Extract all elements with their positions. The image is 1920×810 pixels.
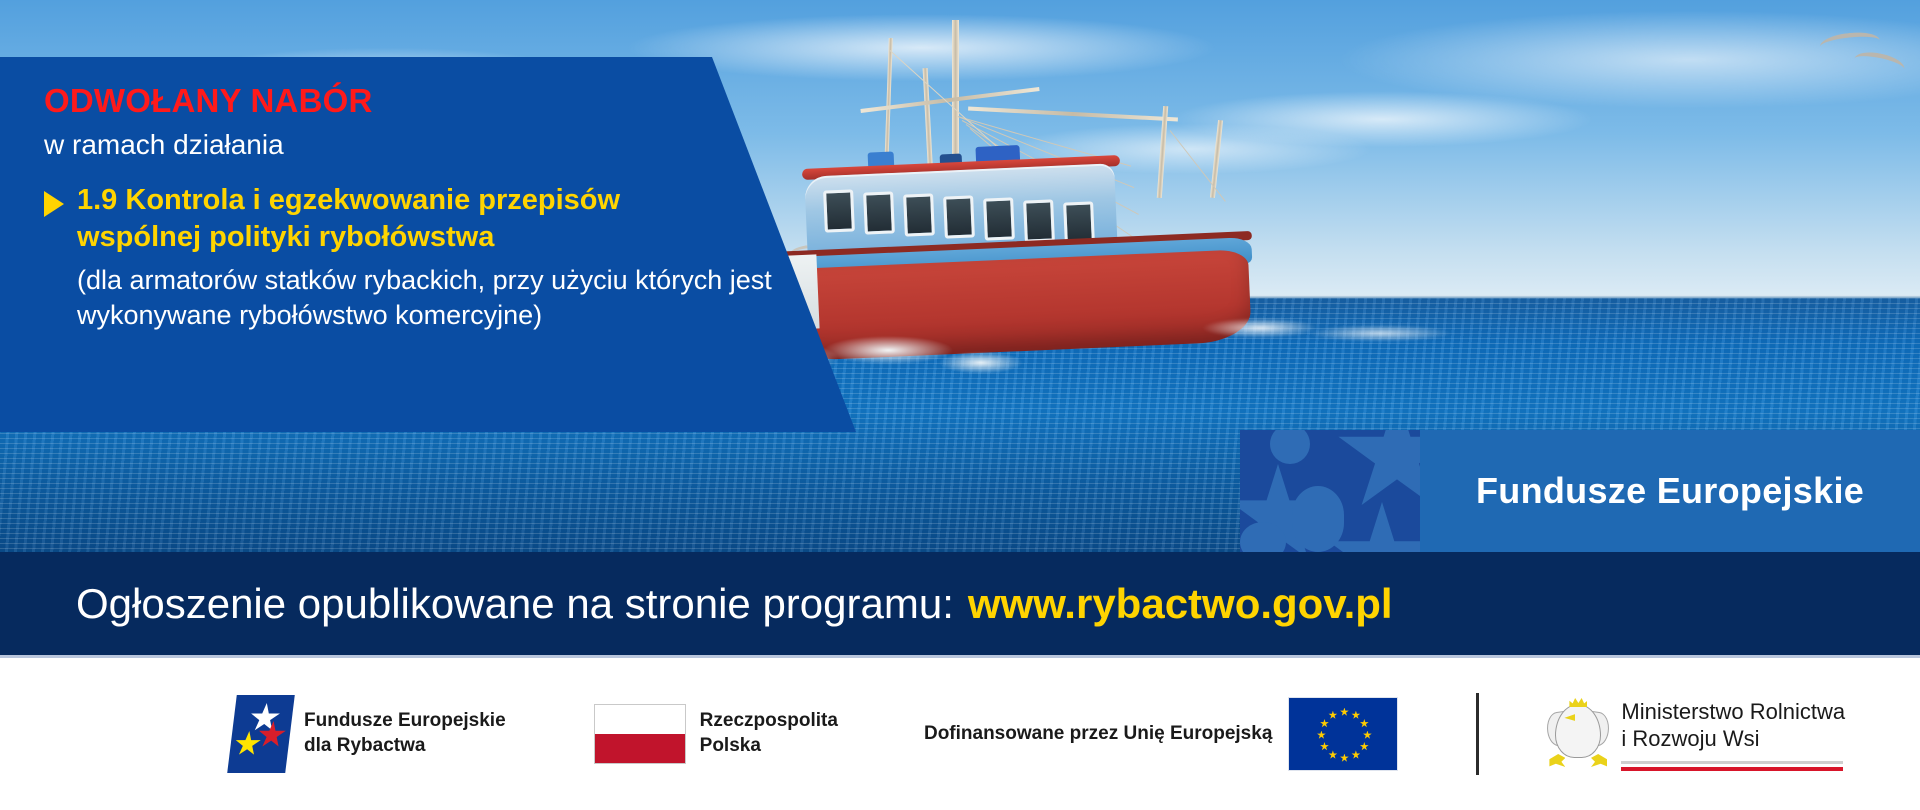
logo-line-1: Rzeczpospolita xyxy=(700,710,838,731)
polish-flag-icon xyxy=(594,704,686,764)
logo-text: Rzeczpospolita Polska xyxy=(700,709,838,758)
fe-badge-label: Fundusze Europejskie xyxy=(1476,470,1864,512)
publication-text: Ogłoszenie opublikowane na stronie progr… xyxy=(76,580,954,628)
triangle-right-icon xyxy=(44,191,64,217)
eu-star-icon xyxy=(1320,719,1329,728)
divider-grey xyxy=(1621,761,1843,764)
logo-line-2: Polska xyxy=(700,734,838,759)
logo-text: Ministerstwo Rolnictwa i Rozwoju Wsi xyxy=(1621,698,1845,771)
footer-logo-bar: Fundusze Europejskie dla Rybactwa Rzeczp… xyxy=(0,658,1920,810)
logo-fundusze-europejskie-dla-rybactwa: Fundusze Europejskie dla Rybactwa xyxy=(232,695,506,773)
logo-rzeczpospolita-polska: Rzeczpospolita Polska xyxy=(594,704,838,764)
fundusze-europejskie-badge: Fundusze Europejskie xyxy=(1240,430,1920,552)
eu-star-icon xyxy=(1328,750,1337,759)
measure-row: 1.9 Kontrola i egzekwowanie przepisów ws… xyxy=(44,182,880,256)
publication-strip: Ogłoszenie opublikowane na stronie progr… xyxy=(0,552,1920,655)
logo-line-2: dla Rybactwa xyxy=(304,734,506,759)
eu-star-icon xyxy=(1360,719,1369,728)
eu-star-icon xyxy=(1328,711,1337,720)
logo-line-1: Dofinansowane przez xyxy=(924,723,1118,744)
stern-wake xyxy=(1170,306,1470,350)
measure-note: (dla armatorów statków rybackich, przy u… xyxy=(44,263,880,335)
logo-text: Dofinansowane przez Unię Europejską xyxy=(924,722,1272,747)
logo-line-1: Fundusze Europejskie xyxy=(304,710,506,731)
vertical-divider xyxy=(1476,693,1479,775)
logo-dofinansowane-przez-unie-europejska: Dofinansowane przez Unię Europejską xyxy=(924,697,1398,771)
eu-star-icon xyxy=(1360,742,1369,751)
logo-line-2: Unię Europejską xyxy=(1124,723,1273,744)
logo-text: Fundusze Europejskie dla Rybactwa xyxy=(304,709,506,758)
fe-flag-star-icon xyxy=(227,695,295,773)
divider-red xyxy=(1621,767,1843,771)
eu-star-icon xyxy=(1351,750,1360,759)
measure-name: 1.9 Kontrola i egzekwowanie przepisów ws… xyxy=(77,182,637,256)
program-url[interactable]: www.rybactwo.gov.pl xyxy=(968,580,1393,628)
eu-star-icon xyxy=(1320,742,1329,751)
logo-line-1: Ministerstwo Rolnictwa xyxy=(1621,698,1845,726)
eu-star-icon xyxy=(1340,708,1349,717)
promo-banner: ODWOŁANY NABÓR w ramach działania 1.9 Ko… xyxy=(0,0,1920,810)
fe-badge-label-panel: Fundusze Europejskie xyxy=(1420,430,1920,552)
logo-line-2: i Rozwoju Wsi xyxy=(1621,725,1845,753)
eu-star-icon xyxy=(1351,711,1360,720)
fishing-boat-illustration xyxy=(740,20,1260,360)
eu-flag-icon xyxy=(1288,697,1398,771)
seagull-icon xyxy=(1820,33,1880,75)
eu-star-icon xyxy=(1363,731,1372,740)
logo-ministerstwo-rolnictwa-i-rozwoju-wsi: Ministerstwo Rolnictwa i Rozwoju Wsi xyxy=(1547,696,1845,772)
eu-star-icon xyxy=(1340,754,1349,763)
fe-star-pattern xyxy=(1240,430,1420,552)
eu-star-icon xyxy=(1317,731,1326,740)
polish-eagle-emblem-icon xyxy=(1547,696,1609,772)
